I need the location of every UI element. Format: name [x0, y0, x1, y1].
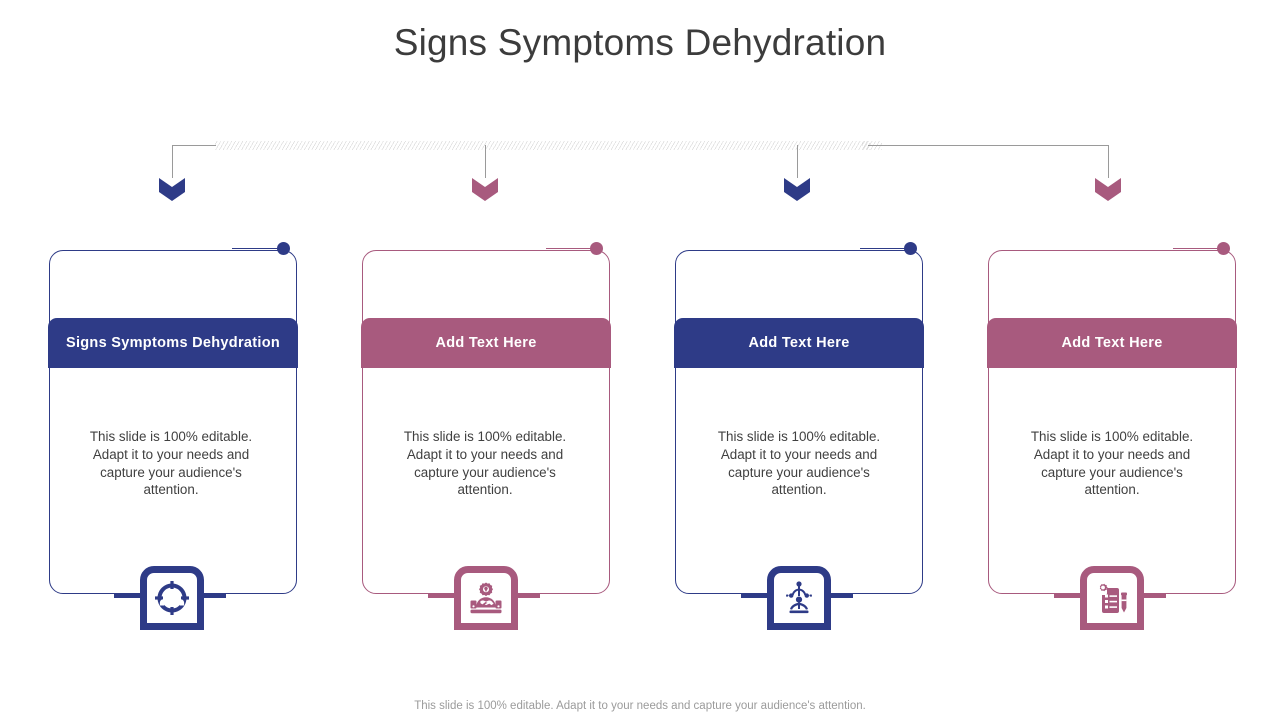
card-1-body: This slide is 100% editable. Adapt it to… [71, 428, 271, 499]
card-2-header-label: Add Text Here [435, 335, 536, 351]
card-1-stub-left [114, 594, 140, 598]
target-people-icon[interactable] [140, 566, 204, 630]
card-4-header: Add Text Here [987, 318, 1237, 368]
card-1-header-label: Signs Symptoms Dehydration [66, 335, 280, 351]
card-3-body: This slide is 100% editable. Adapt it to… [699, 428, 899, 499]
card-2-body: This slide is 100% editable. Adapt it to… [385, 428, 585, 499]
card-1-header: Signs Symptoms Dehydration [48, 318, 298, 368]
card-2[interactable] [362, 250, 610, 594]
card-2-stub-left [428, 594, 454, 598]
card-4-dot [1217, 242, 1230, 255]
footer-note: This slide is 100% editable. Adapt it to… [0, 700, 1280, 712]
card-1[interactable] [49, 250, 297, 594]
card-4-body: This slide is 100% editable. Adapt it to… [1012, 428, 1212, 499]
cards-row: Signs Symptoms Dehydration This slide is… [0, 0, 1280, 720]
checklist-pen-icon[interactable] [1080, 566, 1144, 630]
card-4[interactable] [988, 250, 1236, 594]
card-4-top-stub [1173, 248, 1222, 249]
card-1-dot [277, 242, 290, 255]
card-3-header-label: Add Text Here [748, 335, 849, 351]
growth-plant-icon[interactable] [767, 566, 831, 630]
card-4-header-label: Add Text Here [1061, 335, 1162, 351]
card-2-top-stub [546, 248, 595, 249]
card-1-top-stub [232, 248, 282, 249]
card-3-stub-left [741, 594, 767, 598]
card-3-header: Add Text Here [674, 318, 924, 368]
card-4-stub-left [1054, 594, 1080, 598]
card-3[interactable] [675, 250, 923, 594]
card-3-dot [904, 242, 917, 255]
card-3-top-stub [860, 248, 909, 249]
handshake-gear-icon[interactable] [454, 566, 518, 630]
card-2-header: Add Text Here [361, 318, 611, 368]
card-2-dot [590, 242, 603, 255]
